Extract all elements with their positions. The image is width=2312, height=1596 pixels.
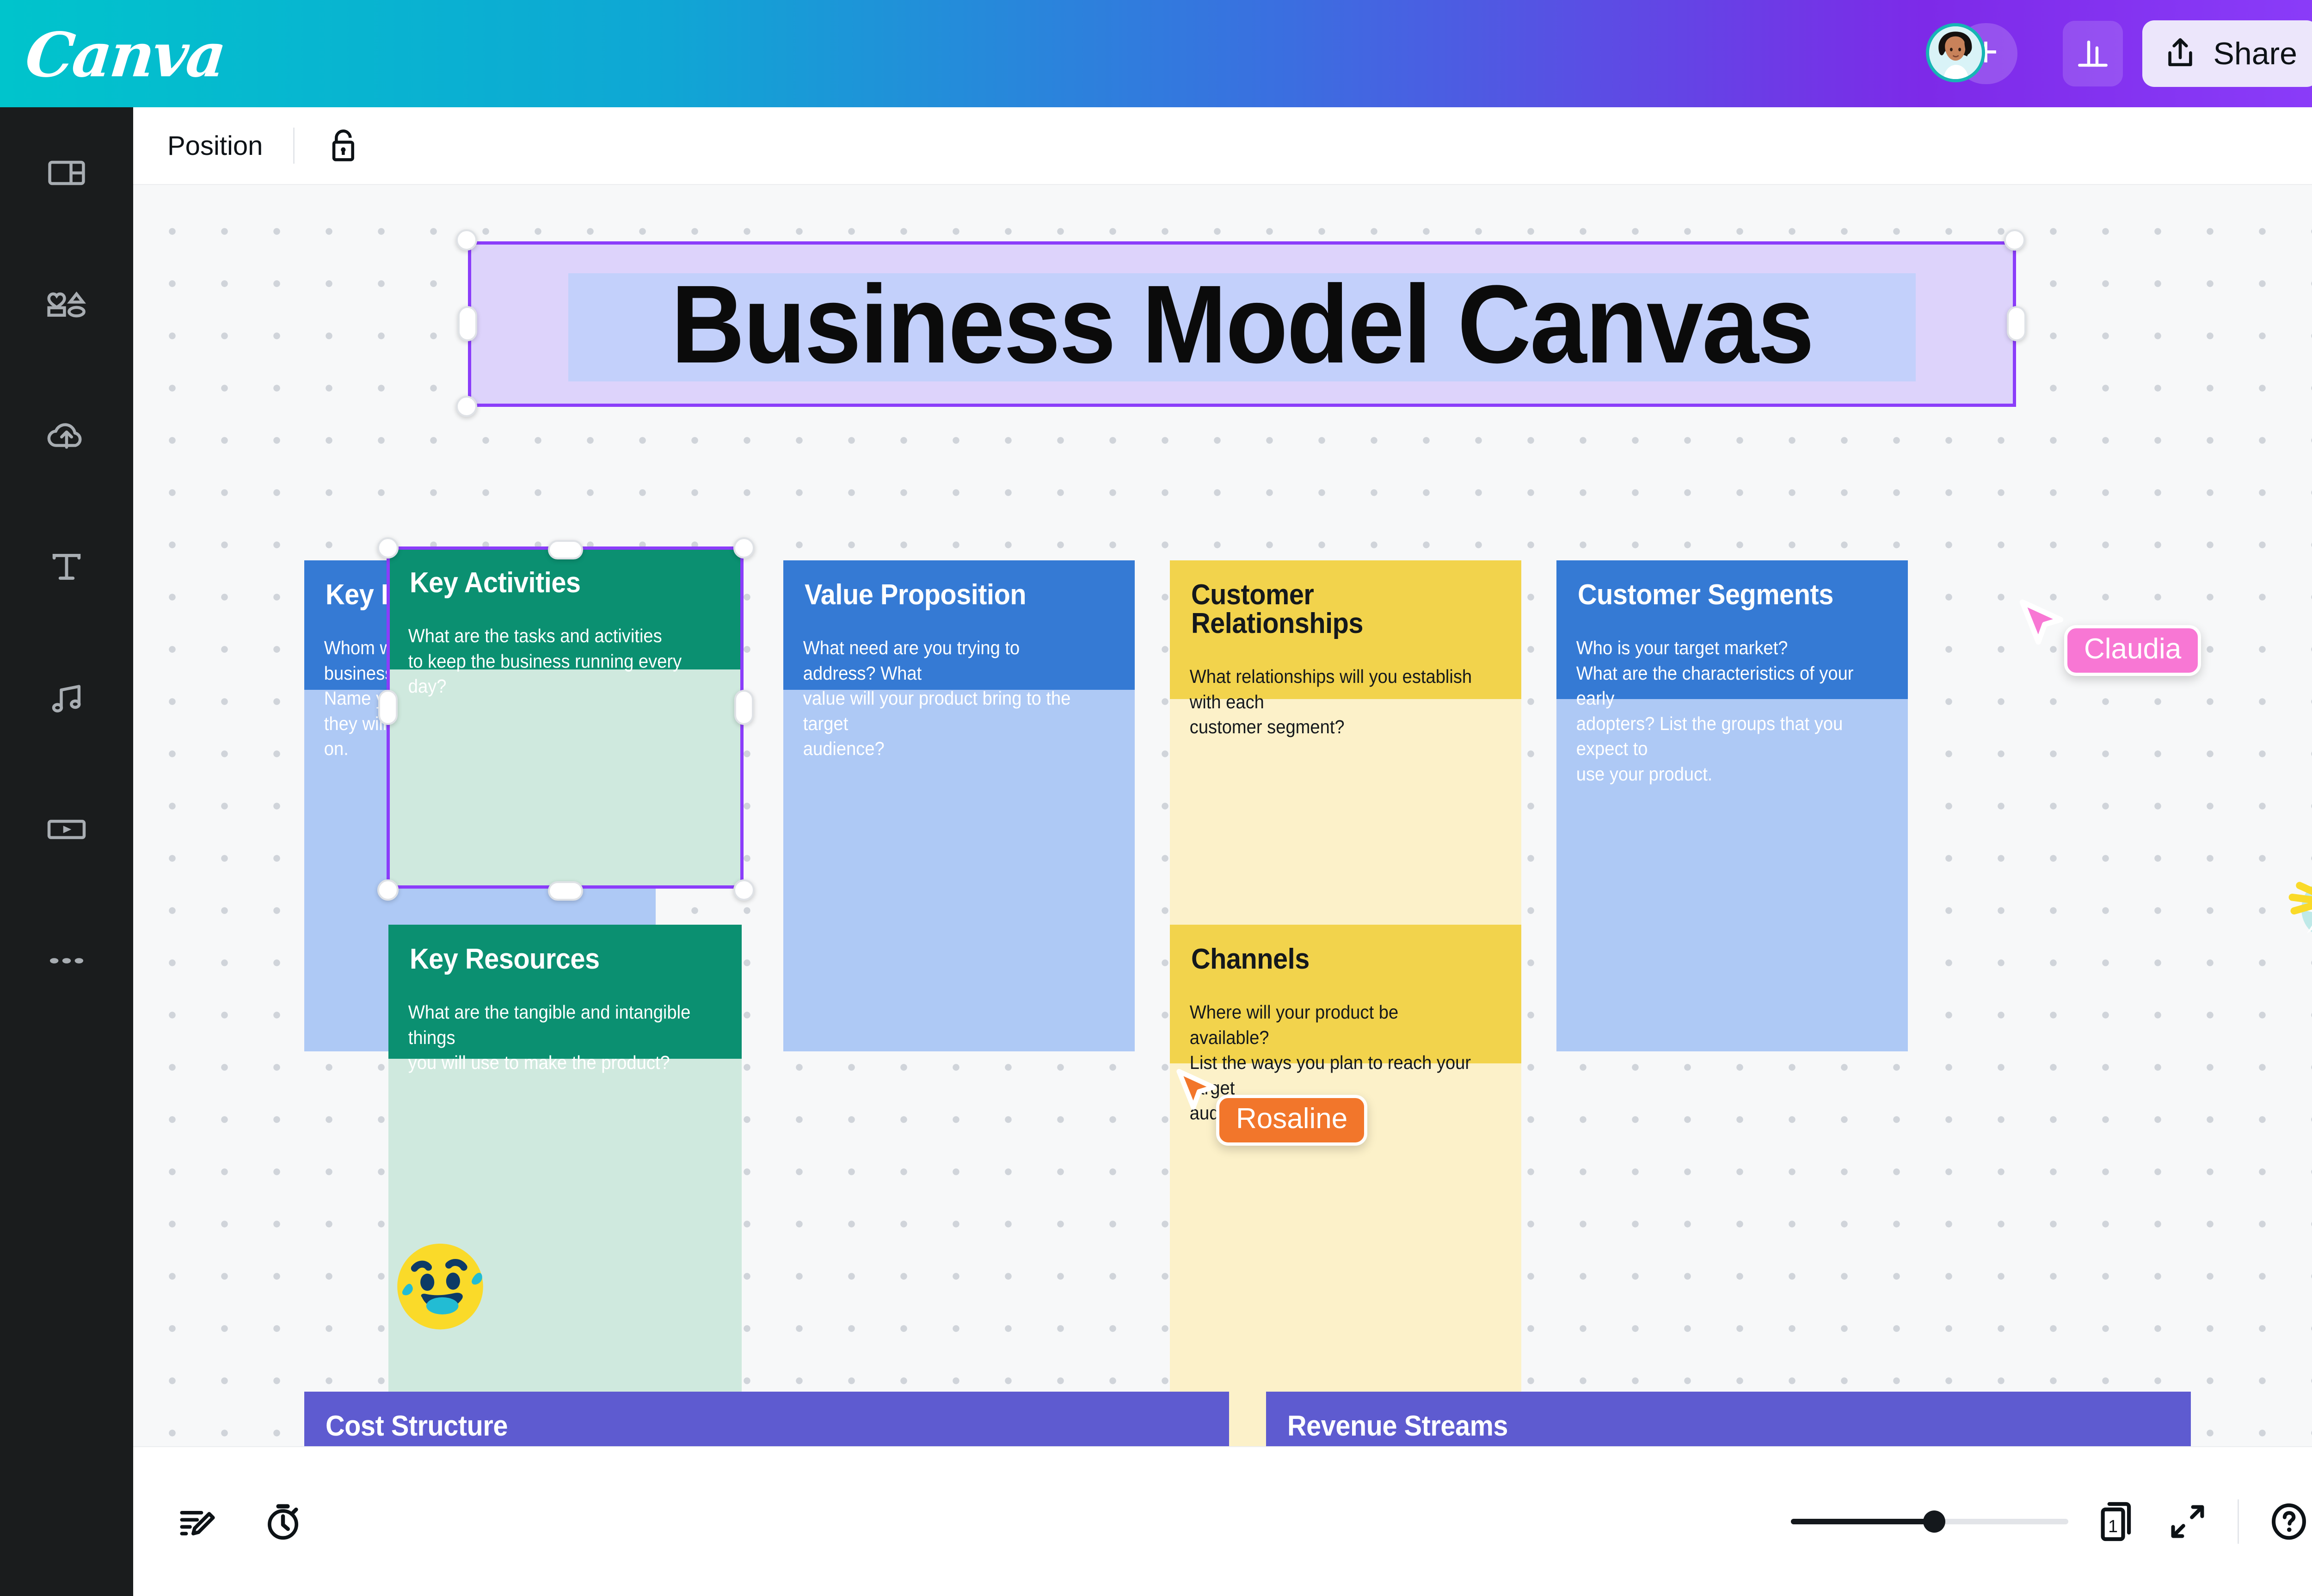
- card-header: Value Proposition What need are you tryi…: [783, 560, 1135, 690]
- card-channels[interactable]: Channels Where will your product be avai…: [1170, 925, 1521, 1446]
- top-bar-actions: +: [1926, 0, 2312, 107]
- bottom-bar-left: [133, 1500, 304, 1543]
- left-sidebar: [0, 107, 133, 1596]
- sidebar-item-audio[interactable]: [0, 661, 133, 735]
- fullscreen-button[interactable]: [2166, 1500, 2209, 1543]
- share-button-label: Share: [2214, 36, 2297, 72]
- card-title: Cost Structure: [326, 1412, 1146, 1441]
- sidebar-item-elements[interactable]: [0, 267, 133, 341]
- sidebar-item-text[interactable]: [0, 530, 133, 604]
- resize-handle-left-middle[interactable]: [378, 690, 398, 725]
- card-title: Revenue Streams: [1287, 1412, 2108, 1441]
- cursor-claudia: [2014, 597, 2069, 657]
- zoom-slider[interactable]: [1791, 1499, 2068, 1544]
- resize-handle-bottom-left[interactable]: [456, 396, 477, 417]
- card-revenue-streams[interactable]: Revenue Streams How will you generate in…: [1266, 1392, 2191, 1446]
- title-text-block[interactable]: Business Model Canvas: [468, 241, 2016, 407]
- card-title: Value Proposition: [805, 581, 1092, 609]
- design-icon: [45, 152, 88, 194]
- card-header: Key Resources What are the tangible and …: [388, 925, 742, 1059]
- card-description: What relationships will you establish wi…: [1170, 664, 1497, 740]
- resize-handle-top-middle[interactable]: [548, 540, 583, 559]
- card-description: What need are you trying to address? Wha…: [783, 635, 1110, 761]
- video-icon: [44, 808, 89, 851]
- sidebar-item-more[interactable]: [0, 924, 133, 998]
- resize-handle-bottom-middle[interactable]: [548, 881, 583, 901]
- timer-button[interactable]: [262, 1500, 304, 1543]
- expand-icon: [2166, 1500, 2209, 1543]
- top-bar: Canva +: [0, 0, 2312, 107]
- zoom-slider-knob[interactable]: [1923, 1510, 1945, 1533]
- sidebar-item-videos[interactable]: [0, 792, 133, 866]
- toolbar-divider: [293, 128, 295, 164]
- insights-button[interactable]: [2063, 21, 2123, 86]
- card-customer-segments[interactable]: Customer Segments Who is your target mar…: [1556, 560, 1908, 1051]
- cursor-label-claudia: Claudia: [2064, 625, 2201, 676]
- avatar[interactable]: [1926, 23, 1985, 82]
- card-header: Customer Relationships What relationship…: [1170, 560, 1521, 699]
- resize-handle-top-left[interactable]: [456, 229, 477, 251]
- lightbulb-idea-sticker[interactable]: [2280, 868, 2312, 959]
- canva-logo[interactable]: Canva: [22, 19, 228, 91]
- unlocked-padlock-icon: [327, 127, 360, 165]
- elements-icon: [43, 283, 90, 325]
- cursor-pointer-icon: [1172, 1067, 1221, 1119]
- music-note-icon: [45, 677, 88, 719]
- notes-button[interactable]: [175, 1500, 217, 1543]
- bar-chart-icon: [2073, 34, 2113, 74]
- resize-handle-bottom-right[interactable]: [733, 879, 755, 901]
- card-title: Channels: [1191, 945, 1478, 974]
- timer-icon: [262, 1500, 304, 1543]
- card-value-proposition[interactable]: Value Proposition What need are you tryi…: [783, 560, 1135, 1051]
- card-key-resources[interactable]: Key Resources What are the tangible and …: [388, 925, 742, 1446]
- lock-button[interactable]: [321, 123, 366, 168]
- share-icon: [2161, 34, 2200, 73]
- avatar-photo: [1929, 26, 1982, 79]
- card-title: Key Activities: [410, 569, 699, 597]
- card-description: What are the tasks and activities to kee…: [388, 623, 717, 699]
- context-toolbar: Position: [133, 107, 2312, 185]
- resize-handle-top-left[interactable]: [377, 537, 399, 559]
- card-title: Key Resources: [410, 945, 699, 974]
- help-question-icon: [2268, 1500, 2310, 1543]
- card-header: Customer Segments Who is your target mar…: [1556, 560, 1908, 699]
- card-title: Customer Relationships: [1191, 581, 1478, 638]
- notes-pencil-icon: [175, 1500, 217, 1543]
- help-button[interactable]: [2268, 1500, 2310, 1543]
- card-title: Customer Segments: [1578, 581, 1865, 609]
- resize-handle-top-right[interactable]: [733, 537, 755, 559]
- resize-handle-top-right[interactable]: [2004, 229, 2025, 251]
- bottom-bar: 1: [133, 1446, 2312, 1596]
- sweat-smile-emoji-icon: [387, 1231, 494, 1338]
- page-count-icon: 1: [2097, 1499, 2138, 1544]
- page-title: Business Model Canvas: [533, 266, 1951, 382]
- resize-handle-right-middle[interactable]: [734, 690, 754, 725]
- page-count-button[interactable]: 1: [2097, 1499, 2138, 1544]
- card-description: What are the tangible and intangible thi…: [388, 1000, 717, 1075]
- more-icon: [45, 951, 88, 970]
- card-key-activities[interactable]: Key Activities What are the tasks and ac…: [388, 548, 742, 887]
- resize-handle-right-middle[interactable]: [2007, 306, 2026, 341]
- resize-handle-bottom-left[interactable]: [377, 879, 399, 901]
- collaborator-cluster: +: [1926, 23, 2046, 84]
- zoom-slider-fill: [1791, 1519, 1934, 1524]
- card-cost-structure[interactable]: Cost Structure What are the fixed and va…: [304, 1392, 1229, 1446]
- share-button[interactable]: Share: [2142, 20, 2312, 87]
- cloud-upload-icon: [43, 414, 90, 457]
- design-canvas[interactable]: Business Model Canvas Key Partners Whom …: [133, 185, 2312, 1446]
- card-header: Key Activities What are the tasks and ac…: [388, 548, 742, 669]
- sweat-smile-emoji-sticker[interactable]: [387, 1231, 494, 1338]
- cursor-rosaline: [1172, 1067, 1221, 1121]
- lightbulb-icon: [2280, 868, 2312, 959]
- card-header: Channels Where will your product be avai…: [1170, 925, 1521, 1063]
- text-icon: [45, 546, 88, 588]
- sidebar-item-design[interactable]: [0, 136, 133, 210]
- bottom-bar-divider: [2238, 1499, 2239, 1544]
- sidebar-item-uploads[interactable]: [0, 399, 133, 473]
- cursor-label-rosaline: Rosaline: [1216, 1095, 1367, 1146]
- card-description: Who is your target market? What are the …: [1556, 635, 1883, 786]
- page-number: 1: [2108, 1516, 2118, 1536]
- position-button[interactable]: Position: [167, 130, 263, 161]
- resize-handle-left-middle[interactable]: [458, 306, 477, 341]
- bottom-bar-right: 1: [1791, 1499, 2310, 1544]
- cursor-pointer-icon: [2014, 597, 2069, 655]
